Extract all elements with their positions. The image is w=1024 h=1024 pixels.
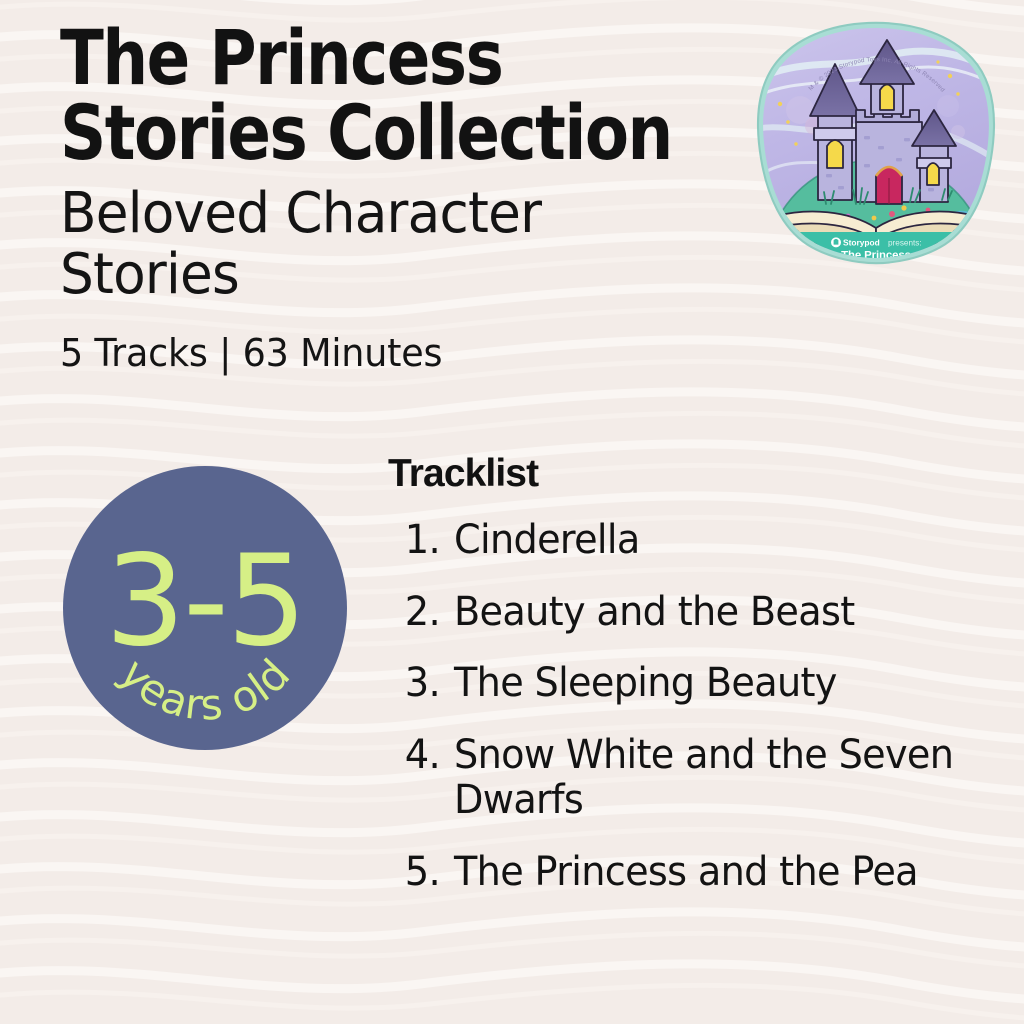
tracklist-section: Tracklist 1.Cinderella2.Beauty and the B… xyxy=(388,452,998,896)
svg-text:presents:: presents: xyxy=(888,238,922,247)
track-title: The Sleeping Beauty xyxy=(454,661,974,707)
track-item[interactable]: 2.Beauty and the Beast xyxy=(388,590,998,636)
track-title: Beauty and the Beast xyxy=(454,590,974,636)
age-range-text: 3-5 xyxy=(105,527,305,674)
tracklist-heading: Tracklist xyxy=(388,452,998,496)
age-badge: 3-5 years old xyxy=(63,466,347,750)
track-title: Cinderella xyxy=(454,518,974,564)
header-block: The Princess Stories Collection Beloved … xyxy=(60,20,760,375)
page-subtitle: Beloved Character Stories xyxy=(60,184,725,305)
track-number: 5. xyxy=(390,850,440,896)
track-item[interactable]: 5.The Princess and the Pea xyxy=(388,850,998,896)
track-number: 2. xyxy=(390,590,440,636)
track-item[interactable]: 3.The Sleeping Beauty xyxy=(388,661,998,707)
track-number: 1. xyxy=(390,518,440,564)
track-title: Snow White and the Seven Dwarfs xyxy=(454,733,974,824)
product-card-badge: Storypod presents: The Princess Stories … xyxy=(752,18,1000,266)
track-count-duration: 5 Tracks | 63 Minutes xyxy=(60,331,732,375)
track-title: The Princess and the Pea xyxy=(454,850,974,896)
track-number: 3. xyxy=(390,661,440,707)
page-title: The Princess Stories Collection xyxy=(60,20,718,170)
svg-text:Storypod: Storypod xyxy=(843,237,880,247)
track-item[interactable]: 1.Cinderella xyxy=(388,518,998,564)
track-number: 4. xyxy=(390,733,440,779)
poster-canvas: The Princess Stories Collection Beloved … xyxy=(0,0,1024,1024)
tracklist-items: 1.Cinderella2.Beauty and the Beast3.The … xyxy=(388,518,998,896)
track-item[interactable]: 4.Snow White and the Seven Dwarfs xyxy=(388,733,998,824)
